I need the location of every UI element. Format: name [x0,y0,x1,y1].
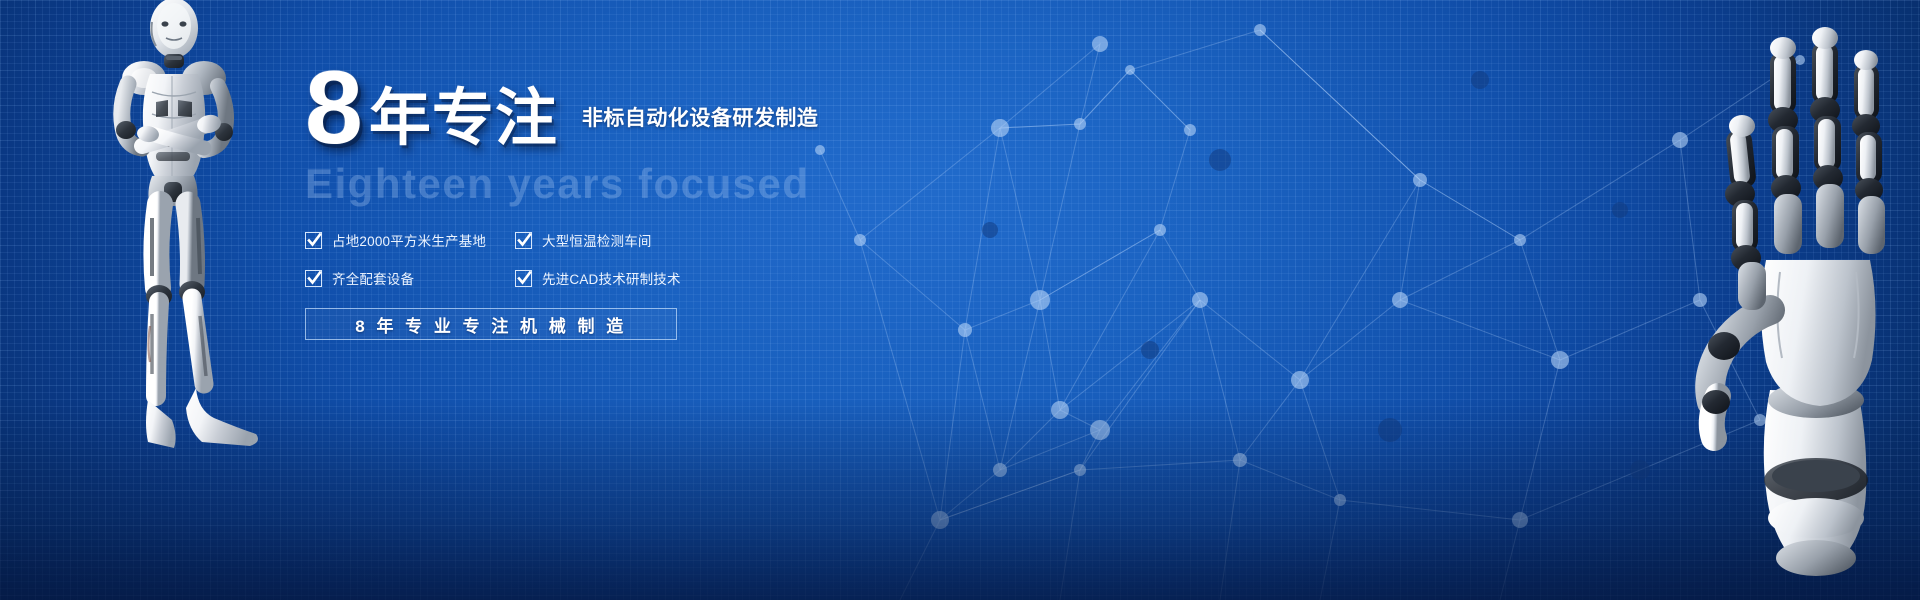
list-item-label: 先进CAD技术研制技术 [542,268,681,288]
headline: 8年专注非标自动化设备研发制造 [305,66,1025,150]
headline-number: 8 [305,66,361,150]
ghost-english-text: Eighteen years focused [305,160,1025,208]
list-item-label: 齐全配套设备 [332,268,414,288]
promo-banner: 8年专注非标自动化设备研发制造 Eighteen years focused 占… [0,0,1920,600]
list-item: 大型恒温检测车间 [515,230,705,250]
list-item: 占地2000平方米生产基地 [305,230,515,250]
tagline-box: 8 年 专 业 专 注 机 械 制 造 [305,308,677,340]
list-item: 先进CAD技术研制技术 [515,268,705,288]
checkbox-checked-icon [305,232,322,249]
robotic-hand-figure [1620,10,1920,590]
headline-subtitle: 非标自动化设备研发制造 [582,102,819,132]
checkbox-checked-icon [305,270,322,287]
list-item: 齐全配套设备 [305,268,515,288]
headline-chinese: 年专注 [369,77,558,161]
checkbox-checked-icon [515,232,532,249]
checkbox-checked-icon [515,270,532,287]
feature-bullet-list: 占地2000平方米生产基地 大型恒温检测车间 齐全配套设备 先进CAD技术研制技… [305,230,705,306]
tagline-text: 8 年 专 业 专 注 机 械 制 造 [355,312,626,337]
list-item-label: 大型恒温检测车间 [542,230,652,250]
list-item-label: 占地2000平方米生产基地 [332,230,486,250]
humanoid-robot-figure [52,0,302,496]
banner-content: 8年专注非标自动化设备研发制造 Eighteen years focused 占… [305,66,1025,340]
